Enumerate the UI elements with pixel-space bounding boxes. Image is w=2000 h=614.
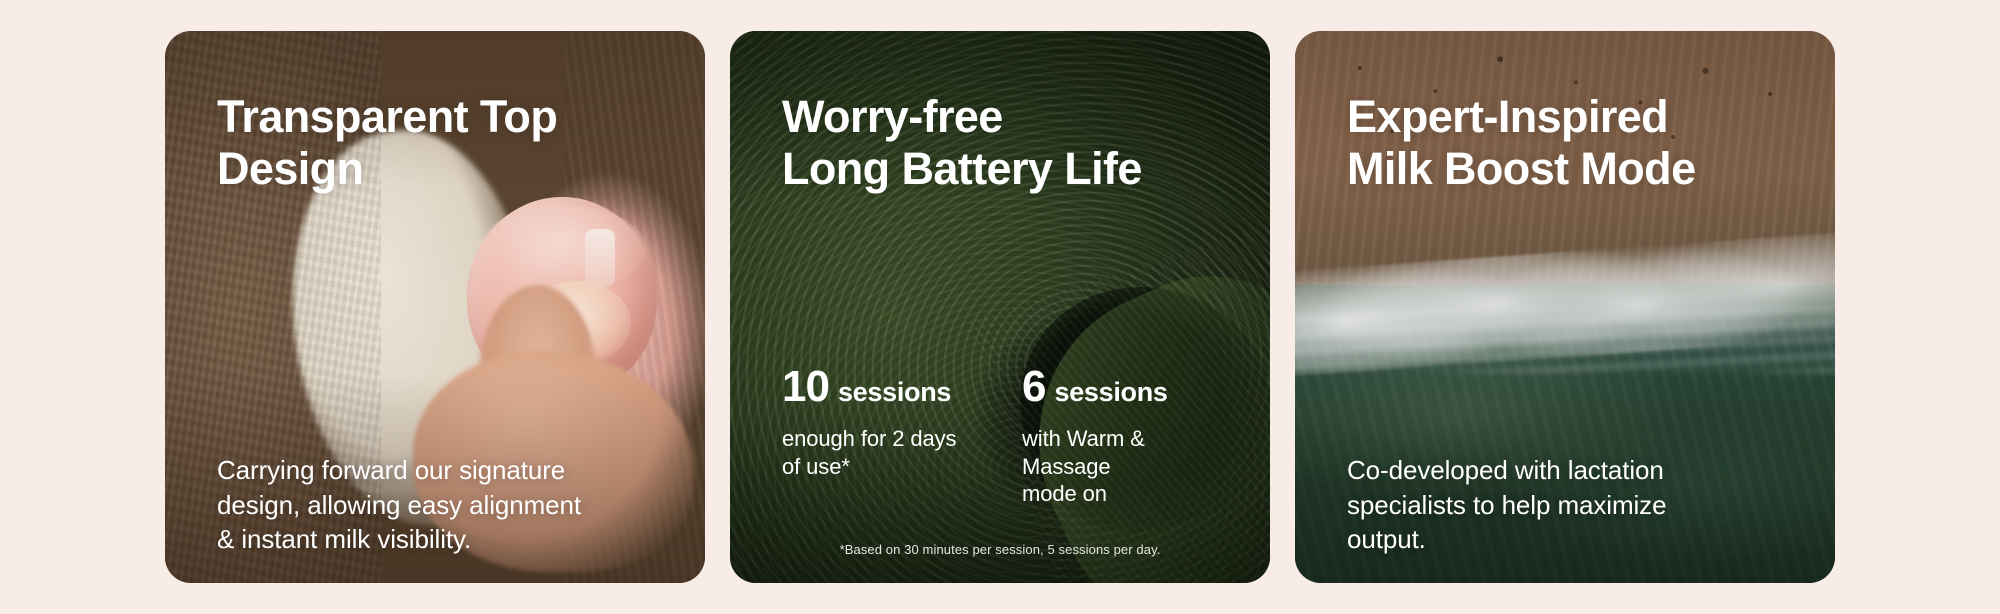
- card-content: Expert-Inspired Milk Boost Mode Co-devel…: [1295, 31, 1835, 583]
- card-content: Transparent Top Design Carrying forward …: [165, 31, 705, 583]
- card-footnote: *Based on 30 minutes per session, 5 sess…: [782, 542, 1218, 557]
- battery-stats-group: 10 sessions enough for 2 days of use* 6 …: [782, 365, 1218, 508]
- card-bottom: Carrying forward our signature design, a…: [217, 453, 653, 557]
- card-bottom: 10 sessions enough for 2 days of use* 6 …: [782, 365, 1218, 557]
- stat-description: enough for 2 days of use*: [782, 425, 978, 480]
- stat-unit: sessions: [838, 379, 951, 406]
- stat-headline: 10 sessions: [782, 365, 978, 409]
- stat-number: 6: [1022, 365, 1045, 409]
- stat-item-10-sessions: 10 sessions enough for 2 days of use*: [782, 365, 978, 508]
- stat-item-6-sessions: 6 sessions with Warm & Massage mode on: [1022, 365, 1218, 508]
- stat-headline: 6 sessions: [1022, 365, 1218, 409]
- feature-card-worry-free-long-battery-life[interactable]: Worry-free Long Battery Life 10 sessions…: [730, 31, 1270, 583]
- stat-description: with Warm & Massage mode on: [1022, 425, 1218, 508]
- card-title: Worry-free Long Battery Life: [782, 91, 1218, 195]
- card-body-text: Carrying forward our signature design, a…: [217, 453, 653, 557]
- stat-unit: sessions: [1054, 379, 1167, 406]
- card-bottom: Co-developed with lactation specialists …: [1347, 453, 1783, 557]
- card-content: Worry-free Long Battery Life 10 sessions…: [730, 31, 1270, 583]
- stat-number: 10: [782, 365, 829, 409]
- feature-card-transparent-top-design[interactable]: Transparent Top Design Carrying forward …: [165, 31, 705, 583]
- feature-card-expert-inspired-milk-boost-mode[interactable]: Expert-Inspired Milk Boost Mode Co-devel…: [1295, 31, 1835, 583]
- card-title: Transparent Top Design: [217, 91, 653, 195]
- feature-cards-row: Transparent Top Design Carrying forward …: [0, 0, 2000, 614]
- card-title: Expert-Inspired Milk Boost Mode: [1347, 91, 1783, 195]
- card-body-text: Co-developed with lactation specialists …: [1347, 453, 1783, 557]
